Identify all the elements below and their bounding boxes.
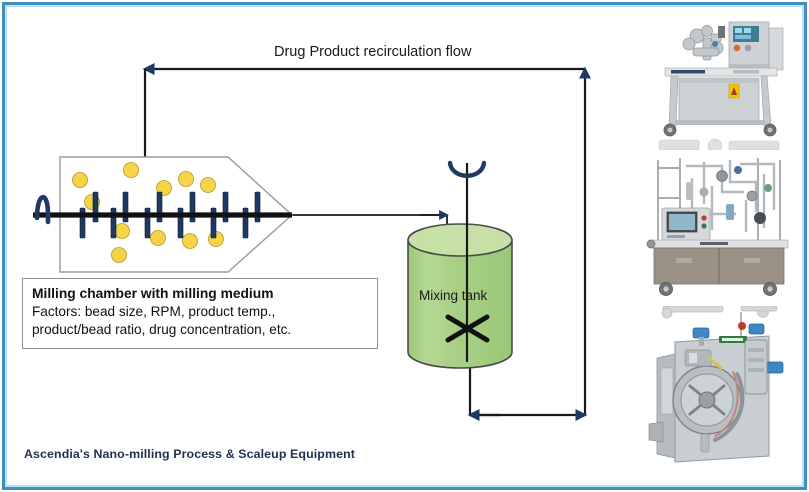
bead [179,172,194,187]
drive-coupling-icon [37,197,48,222]
bead [183,234,198,249]
equipment-photo-pilot-scale-skid [640,152,798,298]
bead [151,231,166,246]
milling-chamber-infobox: Milling chamber with milling medium Fact… [22,278,378,349]
slide-canvas: Drug Product recirculation flow [0,0,809,492]
bead [201,178,216,193]
infobox-heading: Milling chamber with milling medium [32,285,368,303]
tank-top [408,224,512,256]
bead [73,173,88,188]
equipment-photo-production-mill [645,306,797,476]
bead [115,224,130,239]
slide-caption: Ascendia's Nano-milling Process & Scaleu… [24,447,355,461]
tank-body [408,240,512,368]
milling-chamber [33,157,292,272]
mixing-tank-label: Mixing tank [419,288,488,303]
infobox-factors-line-1: Factors: bead size, RPM, product temp., [32,303,368,321]
flow-title: Drug Product recirculation flow [274,44,472,60]
bead [124,163,139,178]
infobox-factors-line-2: product/bead ratio, drug concentration, … [32,321,368,339]
equipment-photo-lab-scale-mill [645,8,795,150]
bead [112,248,127,263]
mixing-tank: Mixing tank [408,163,512,368]
